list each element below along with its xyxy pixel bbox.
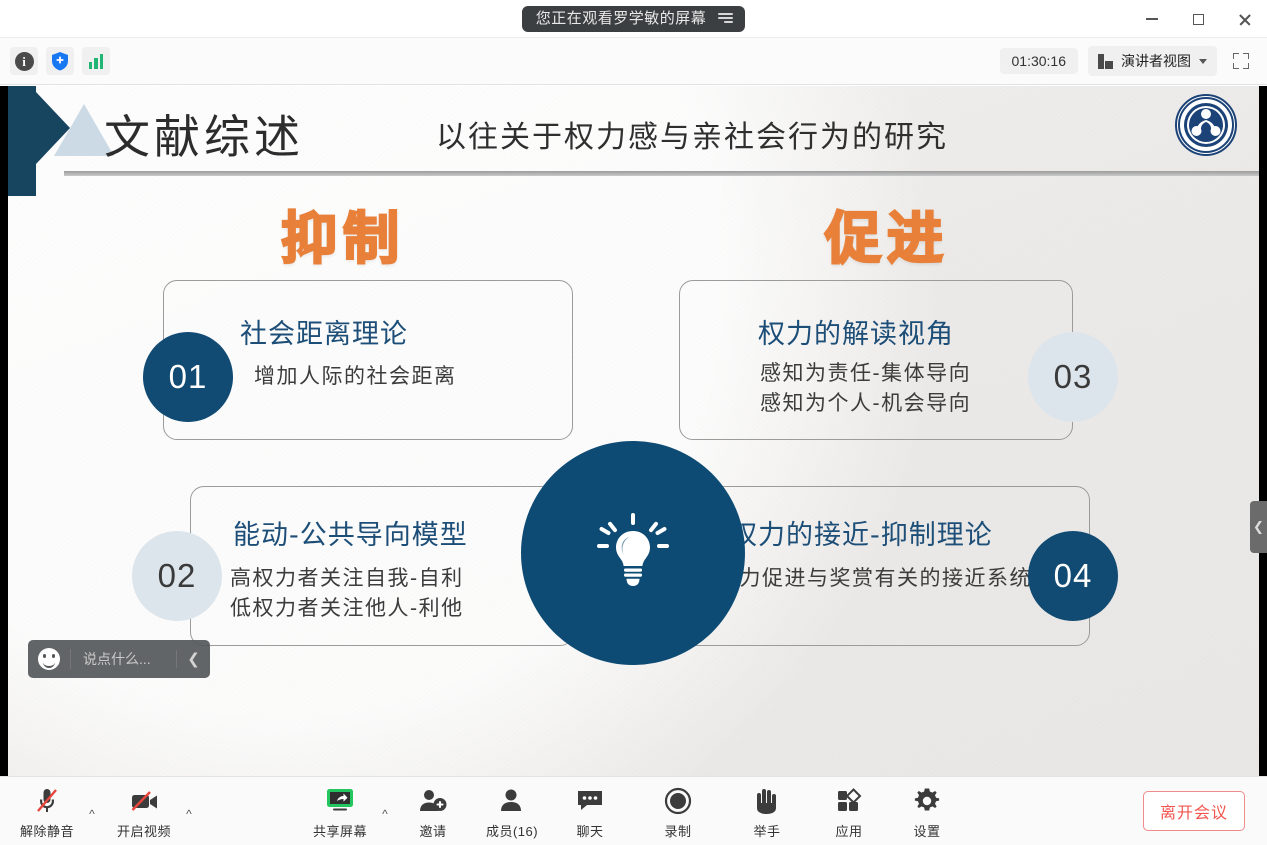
slide-title: 文献综述 bbox=[104, 101, 304, 167]
info-icon: i bbox=[15, 52, 34, 71]
chevron-left-icon[interactable]: ❮ bbox=[176, 650, 210, 668]
participants-icon bbox=[498, 784, 526, 818]
right-section-label: 促进 bbox=[825, 194, 949, 275]
header-left-bar bbox=[8, 86, 36, 196]
mute-options-chevron-icon[interactable]: ^ bbox=[85, 807, 99, 821]
fullscreen-button[interactable] bbox=[1227, 47, 1255, 75]
meeting-bottom-toolbar: 解除静音 ^ 开启视频 ^ bbox=[0, 776, 1267, 845]
side-panel-toggle[interactable]: ❮ bbox=[1250, 501, 1267, 553]
header-divider bbox=[64, 171, 1259, 176]
chevron-left-icon: ❮ bbox=[1253, 519, 1264, 535]
sharing-banner[interactable]: 您正在观看罗学敏的屏幕 bbox=[522, 6, 746, 32]
top-toolbar-left: i bbox=[0, 47, 110, 75]
toolbar-label-chat: 聊天 bbox=[576, 821, 603, 840]
card-04-badge: 04 bbox=[1028, 531, 1118, 621]
toolbar-button-raise-hand[interactable]: 举手 bbox=[730, 784, 804, 840]
video-options-chevron-icon[interactable]: ^ bbox=[182, 807, 196, 821]
share-screen-icon bbox=[324, 784, 356, 818]
slide-header: 文献综述 以往关于权力感与亲社会行为的研究 bbox=[8, 86, 1259, 170]
view-mode-label: 演讲者视图 bbox=[1121, 51, 1191, 71]
sharing-banner-text: 您正在观看罗学敏的屏幕 bbox=[536, 11, 707, 26]
card-01-body: 增加人际的社会距离 bbox=[254, 361, 457, 391]
chevron-down-icon bbox=[1199, 59, 1207, 64]
toolbar-button-invite[interactable]: 邀请 bbox=[396, 784, 470, 840]
meeting-timer: 01:30:16 bbox=[1000, 48, 1079, 74]
toolbar-button-share-screen[interactable]: 共享屏幕 bbox=[303, 784, 377, 840]
maximize-button[interactable] bbox=[1175, 0, 1221, 38]
card-02-title: 能动-公共导向模型 bbox=[233, 513, 468, 552]
card-03-title: 权力的解读视角 bbox=[758, 312, 954, 351]
toolbar-button-video[interactable]: 开启视频 bbox=[107, 784, 181, 840]
chat-input-overlay[interactable]: 说点什么... ❮ bbox=[28, 640, 210, 678]
toolbar-label-settings: 设置 bbox=[913, 821, 940, 840]
card-03-body: 感知为责任-集体导向 感知为个人-机会导向 bbox=[760, 358, 971, 419]
toolbar-label-video: 开启视频 bbox=[117, 821, 171, 840]
toolbar-button-settings[interactable]: 设置 bbox=[890, 784, 964, 840]
card-01-badge: 01 bbox=[143, 332, 233, 422]
toolbar-button-chat[interactable]: 聊天 bbox=[553, 784, 627, 840]
card-04-body: 权力促进与奖赏有关的接近系统 bbox=[717, 563, 1037, 593]
emoji-icon[interactable] bbox=[28, 648, 70, 670]
apps-grid-icon bbox=[835, 784, 863, 818]
toolbar-label-mute: 解除静音 bbox=[20, 821, 74, 840]
record-icon bbox=[664, 784, 692, 818]
center-hub bbox=[521, 441, 745, 665]
add-person-icon bbox=[418, 784, 448, 818]
lightbulb-icon bbox=[596, 511, 670, 596]
title-bar: 您正在观看罗学敏的屏幕 bbox=[0, 0, 1267, 38]
card-02-badge: 02 bbox=[132, 531, 222, 621]
meeting-info-button[interactable]: i bbox=[10, 47, 38, 75]
zoom-meeting-window: 您正在观看罗学敏的屏幕 i bbox=[0, 0, 1267, 845]
toolbar-label-invite: 邀请 bbox=[419, 821, 446, 840]
toolbar-button-participants[interactable]: 成员(16) bbox=[475, 784, 549, 840]
hamburger-icon[interactable] bbox=[718, 13, 733, 23]
speaker-view-icon bbox=[1098, 54, 1113, 69]
card-04-title: 权力的接近-抑制理论 bbox=[730, 513, 993, 552]
fullscreen-icon bbox=[1233, 53, 1249, 69]
network-status-button[interactable] bbox=[82, 47, 110, 75]
camera-off-icon bbox=[128, 784, 160, 818]
toolbar-label-share-screen: 共享屏幕 bbox=[313, 821, 367, 840]
shared-screen-stage: 文献综述 以往关于权力感与亲社会行为的研究 bbox=[0, 86, 1267, 776]
leave-meeting-button[interactable]: 离开会议 bbox=[1143, 791, 1245, 831]
security-button[interactable] bbox=[46, 47, 74, 75]
view-mode-selector[interactable]: 演讲者视图 bbox=[1088, 46, 1217, 76]
top-toolbar-right: 01:30:16 演讲者视图 bbox=[1000, 46, 1267, 76]
card-01-title: 社会距离理论 bbox=[240, 312, 408, 351]
network-signal-icon bbox=[89, 53, 104, 69]
security-shield-icon bbox=[51, 51, 69, 71]
card-03-badge: 03 bbox=[1028, 332, 1118, 422]
share-options-chevron-icon[interactable]: ^ bbox=[378, 807, 392, 821]
toolbar-button-record[interactable]: 录制 bbox=[641, 784, 715, 840]
toolbar-label-apps: 应用 bbox=[835, 821, 862, 840]
toolbar-button-mute[interactable]: 解除静音 bbox=[10, 784, 84, 840]
close-button[interactable] bbox=[1221, 0, 1267, 38]
gear-icon bbox=[913, 784, 941, 818]
raise-hand-icon bbox=[754, 784, 780, 818]
chat-bubble-icon bbox=[575, 784, 605, 818]
chat-input-placeholder[interactable]: 说点什么... bbox=[70, 649, 176, 669]
window-controls bbox=[1129, 0, 1267, 38]
toolbar-label-participants: 成员(16) bbox=[486, 821, 538, 840]
minimize-button[interactable] bbox=[1129, 0, 1175, 38]
left-section-label: 抑制 bbox=[281, 194, 405, 275]
meeting-top-toolbar: i 01:30:16 演讲者视图 bbox=[0, 38, 1267, 85]
toolbar-label-raise-hand: 举手 bbox=[753, 821, 780, 840]
university-emblem bbox=[1175, 94, 1237, 156]
card-02-body: 高权力者关注自我-自利 低权力者关注他人-利他 bbox=[230, 563, 464, 624]
microphone-muted-icon bbox=[32, 784, 62, 818]
toolbar-button-apps[interactable]: 应用 bbox=[812, 784, 886, 840]
presentation-slide: 文献综述 以往关于权力感与亲社会行为的研究 bbox=[8, 86, 1259, 776]
slide-subtitle: 以往关于权力感与亲社会行为的研究 bbox=[436, 112, 948, 156]
toolbar-label-record: 录制 bbox=[664, 821, 691, 840]
